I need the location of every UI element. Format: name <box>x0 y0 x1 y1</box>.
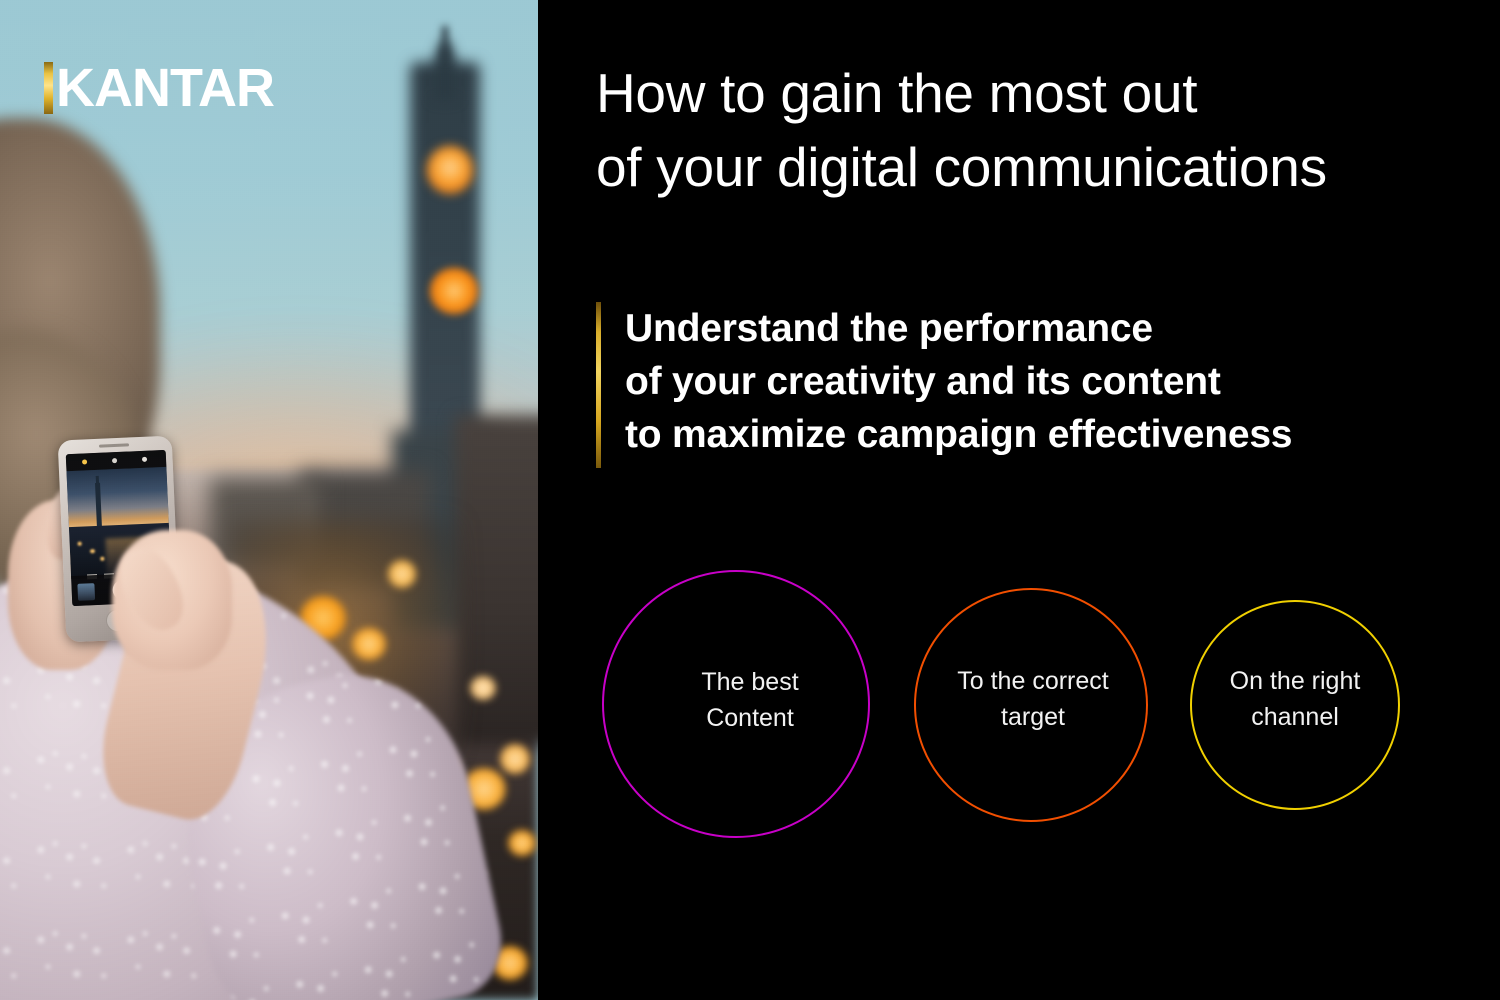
logo-wordmark: KANTAR <box>56 62 274 114</box>
pillars-group: The best Content To the correct target O… <box>596 560 1476 880</box>
pillar-label: The best Content <box>701 664 798 736</box>
pillar-line-1: To the correct <box>957 663 1108 699</box>
photo-thumbnail <box>77 583 95 601</box>
slide-canvas: KANTAR How to gain the most out of your … <box>0 0 1500 1000</box>
pillar-line-2: channel <box>1230 699 1361 735</box>
subtitle-line-2: of your creativity and its content <box>625 355 1292 408</box>
pillar-best-content[interactable]: The best Content <box>602 570 870 838</box>
tower-spire-icon <box>442 26 448 60</box>
subtitle-accent-bar-icon <box>596 302 601 468</box>
subtitle-text: Understand the performance of your creat… <box>625 302 1292 468</box>
bokeh-light <box>470 676 496 700</box>
pillar-line-1: On the right <box>1230 663 1361 699</box>
pillar-line-1: The best <box>701 664 798 700</box>
viewfinder-spire-icon <box>96 476 99 486</box>
content-panel: How to gain the most out of your digital… <box>538 0 1500 1000</box>
viewfinder-sky <box>66 467 168 529</box>
pillar-label: To the correct target <box>957 663 1108 735</box>
title-line-1: How to gain the most out <box>596 56 1486 130</box>
bokeh-light <box>388 560 416 588</box>
subtitle-line-1: Understand the performance <box>625 302 1292 355</box>
bokeh-light <box>352 628 386 660</box>
bokeh-light <box>508 830 536 856</box>
kantar-logo: KANTAR <box>44 62 274 114</box>
bokeh-light <box>500 744 530 774</box>
tower-light-lower-icon <box>430 268 478 314</box>
subtitle-block: Understand the performance of your creat… <box>596 302 1292 468</box>
flash-icon <box>82 459 87 464</box>
pillar-right-channel[interactable]: On the right channel <box>1190 600 1400 810</box>
tower-light-upper-icon <box>427 146 473 194</box>
pillar-line-2: Content <box>701 700 798 736</box>
title-line-2: of your digital communications <box>596 130 1486 204</box>
filter-icon <box>142 457 147 462</box>
pillar-line-2: target <box>957 699 1108 735</box>
hero-photo <box>0 0 538 1000</box>
building-right <box>455 415 538 745</box>
page-title: How to gain the most out of your digital… <box>596 56 1486 204</box>
pillar-label: On the right channel <box>1230 663 1361 735</box>
pillar-correct-target[interactable]: To the correct target <box>914 588 1148 822</box>
timer-icon <box>112 458 117 463</box>
logo-accent-bar-icon <box>44 62 53 114</box>
subtitle-line-3: to maximize campaign effectiveness <box>625 408 1292 461</box>
